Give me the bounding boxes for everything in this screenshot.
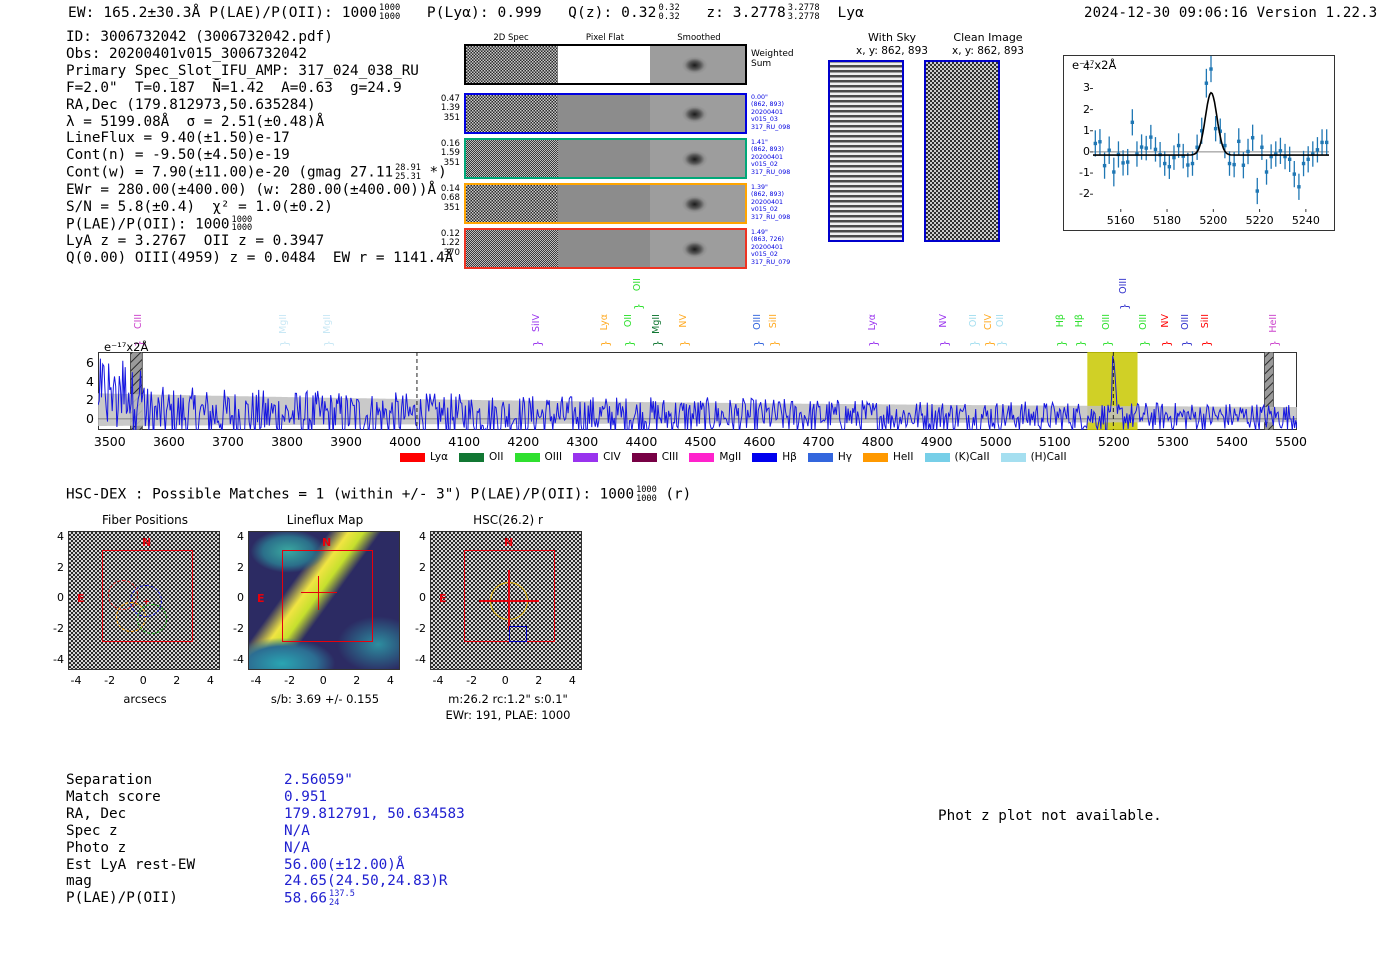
match-table-value: 2.56059" [284, 772, 353, 789]
hsc-r-caption-2: EWr: 191, PLAE: 1000 [428, 708, 588, 722]
info-signal-to-noise: S/N = 5.8(±0.4) χ² = 1.0(±0.2) [66, 199, 453, 216]
panel-ytick: 0 [406, 591, 426, 604]
emission-line-bracket: } [632, 303, 645, 310]
panel-ytick: -2 [44, 622, 64, 635]
spectrum-xtick: 4600 [735, 434, 785, 449]
emission-line-label: OIII [1138, 314, 1149, 330]
legend-label: (K)CaII [955, 451, 990, 463]
weighted-sum-strip [464, 44, 747, 85]
legend-swatch [752, 453, 777, 462]
strip-stats-4: 0.121.22370 [424, 230, 460, 258]
emission-line-label: Hβ [1055, 314, 1066, 327]
strip-stats-2: 0.161.59351 [424, 140, 460, 168]
panel-ytick: -4 [44, 653, 64, 666]
legend-label: HeII [893, 451, 914, 463]
hsc-summary-text: HSC-DEX : Possible Matches = 1 (within +… [66, 487, 634, 503]
hsc-crosshair-v [508, 570, 510, 630]
panel-ytick: 4 [406, 530, 426, 543]
info-redshifts: LyA z = 3.2767 OII z = 0.3947 [66, 233, 453, 250]
emission-line-label: OIII [1118, 278, 1129, 294]
spectrum-xtick: 4500 [675, 434, 725, 449]
spectrum-ytick: 6 [80, 355, 94, 370]
legend-item: (H)CaII [1001, 451, 1067, 463]
panel-title-pixel-flat: Pixel Flat [558, 33, 652, 43]
emission-line-bracket: } [995, 340, 1008, 347]
legend-label: OII [489, 451, 503, 463]
panel-title-smoothed: Smoothed [652, 33, 746, 43]
emission-line-bracket: } [768, 340, 781, 347]
legend-swatch [689, 453, 714, 462]
match-table-key: RA, Dec [66, 806, 284, 823]
legend-label: CIV [603, 451, 621, 463]
legend-swatch [400, 453, 425, 462]
header-plae-fraction: 10001000 [379, 4, 400, 22]
panel-xtick: 4 [198, 674, 222, 687]
panel-ytick: -2 [224, 622, 244, 635]
emission-line-label: OIII [1101, 314, 1112, 330]
lp-ytick: -1 [1073, 166, 1090, 179]
lp-ytick: 0 [1073, 145, 1090, 158]
emission-line-bracket: } [599, 340, 612, 347]
panel-ytick: 0 [224, 591, 244, 604]
info-ewr: EWr = 280.00(±400.00) (w: 280.00(±400.00… [66, 182, 453, 199]
emission-line-bracket: } [983, 340, 996, 347]
spectrum-xtick: 3800 [262, 434, 312, 449]
lp-xtick: 5180 [1149, 214, 1185, 227]
panel-xtick: 0 [311, 674, 335, 687]
emission-line-label: SiIV [531, 314, 542, 332]
header-redshift-suffix: Lyα [837, 5, 864, 21]
spectrum-strip-1 [464, 93, 747, 134]
emission-line-label: SiII [768, 314, 779, 328]
source-info-block: ID: 3006732042 (3006732042.pdf) Obs: 202… [66, 29, 453, 267]
match-plae-fraction: 137.524 [329, 890, 355, 907]
target-crosshair-1: + [143, 595, 150, 608]
match-table-key: mag [66, 873, 284, 890]
emission-line-label: Hβ [1074, 314, 1085, 327]
lp-ytick: 4 [1073, 60, 1090, 73]
spectrum-ytick: 0 [80, 411, 94, 426]
compass-north-label-3: N [504, 536, 513, 549]
spectrum-strip-4 [464, 228, 747, 269]
spectrum-xtick: 3700 [203, 434, 253, 449]
panel-ytick: 4 [224, 530, 244, 543]
spectrum-xtick: 3600 [144, 434, 194, 449]
emission-line-label: OII [623, 314, 634, 327]
match-table-row: Spec zN/A [66, 823, 465, 840]
emission-line-label: MgII [651, 314, 662, 334]
legend-label: MgII [719, 451, 741, 463]
emission-line-bracket: } [678, 340, 691, 347]
panel-title-fiber-positions: Fiber Positions [65, 513, 225, 527]
hsc-summary-filter: (r) [665, 487, 691, 503]
compass-east-label-3: E [439, 592, 447, 605]
panel-xtick: 2 [345, 674, 369, 687]
panel-ytick: 2 [406, 561, 426, 574]
lp-ytick: 3 [1073, 81, 1090, 94]
panel-xtick: -4 [426, 674, 450, 687]
spectrum-xtick: 4400 [616, 434, 666, 449]
emission-line-bracket: } [752, 340, 765, 347]
emission-line-legend: LyαOIIOIIICIVCIIIMgIIHβHγHeII(K)CaII(H)C… [400, 451, 1078, 463]
panel-xtick: -2 [98, 674, 122, 687]
legend-item: CIII [632, 451, 679, 463]
panel-ytick: 2 [224, 561, 244, 574]
emission-line-bracket: } [278, 340, 291, 347]
emission-line-bracket: } [1101, 340, 1114, 347]
spectrum-xtick: 4700 [794, 434, 844, 449]
panel-ytick: 4 [44, 530, 64, 543]
match-table-row: Match score0.951 [66, 789, 465, 806]
panel-xtick: 2 [165, 674, 189, 687]
panel-xtick: 4 [378, 674, 402, 687]
panel-xtick: -2 [460, 674, 484, 687]
emission-line-label: Lyα [599, 314, 610, 330]
info-continuum-narrow: Cont(n) = -9.50(±4.50)e-19 [66, 147, 453, 164]
match-table-key: Spec z [66, 823, 284, 840]
emission-line-label: OII [968, 314, 979, 327]
panel-ytick: -2 [406, 622, 426, 635]
hsc-r-caption: m:26.2 rc:1.2" s:0.1" [428, 692, 588, 706]
legend-swatch [632, 453, 657, 462]
lp-ytick: 2 [1073, 103, 1090, 116]
legend-label: Hβ [782, 451, 797, 463]
lp-ytick: 1 [1073, 124, 1090, 137]
header-summary-prefix: EW: 165.2±30.3Å P(LAE)/P(OII): 1000 [68, 5, 377, 21]
header-plya: P(Lyα): 0.999 [427, 5, 542, 21]
info-radec: RA,Dec (179.812973,50.635284) [66, 97, 453, 114]
info-lineflux: LineFlux = 9.40(±1.50)e-17 [66, 130, 453, 147]
spectrum-xtick: 4200 [498, 434, 548, 449]
panel-ytick: -4 [406, 653, 426, 666]
spectrum-strip-3 [464, 183, 747, 224]
legend-item: HeII [863, 451, 914, 463]
emission-line-bracket: } [1180, 340, 1193, 347]
emission-line-label: MgII [322, 314, 333, 334]
spectrum-xtick: 4900 [912, 434, 962, 449]
legend-label: (H)CaII [1031, 451, 1067, 463]
emission-line-bracket: } [1074, 340, 1087, 347]
emission-line-label: NV [938, 314, 949, 328]
with-sky-cutout-image [828, 60, 904, 242]
match-table-key: P(LAE)/P(OII) [66, 890, 284, 908]
emission-line-label: OII [995, 314, 1006, 327]
legend-item: OIII [515, 451, 563, 463]
legend-item: (K)CaII [925, 451, 990, 463]
line-profile-canvas [1063, 55, 1335, 231]
spectrum-xtick: 4100 [439, 434, 489, 449]
lineflux-map-caption: s/b: 3.69 +/- 0.155 [245, 692, 405, 706]
info-id: ID: 3006732042 (3006732042.pdf) [66, 29, 453, 46]
emission-line-bracket: } [1268, 340, 1281, 347]
compass-north-label: N [142, 536, 151, 549]
emission-line-bracket: } [1160, 340, 1173, 347]
hsc-r-image: N E [430, 531, 582, 670]
panel-xtick: -2 [278, 674, 302, 687]
compass-north-label-2: N [322, 536, 331, 549]
legend-item: Hγ [808, 451, 852, 463]
panel-title-2d-spec: 2D Spec [464, 33, 558, 43]
emission-line-bracket: } [1055, 340, 1068, 347]
match-table-value: N/A [284, 840, 310, 857]
spectrum-xtick: 5100 [1030, 434, 1080, 449]
emission-line-label: MgII [278, 314, 289, 334]
spectrum-xtick: 3900 [321, 434, 371, 449]
header-qz-fraction: 0.320.32 [658, 4, 679, 22]
match-table-row: Separation2.56059" [66, 772, 465, 789]
spectrum-annotation: e⁻¹⁷x2Å [104, 340, 148, 354]
spectrum-ytick: 4 [80, 374, 94, 389]
spectrum-xtick: 5200 [1089, 434, 1139, 449]
panel-xtick: 2 [527, 674, 551, 687]
legend-swatch [808, 453, 833, 462]
info-q-oiii: Q(0.00) OIII(4959) z = 0.0484 EW r = 114… [66, 250, 453, 267]
match-table-value: 179.812791, 50.634583 [284, 806, 465, 823]
header-qz: Q(z): 0.32 [568, 5, 656, 21]
match-table-value: N/A [284, 823, 310, 840]
info-wavelength: λ = 5199.08Å σ = 2.51(±0.48)Å [66, 114, 453, 131]
panel-ytick: -4 [224, 653, 244, 666]
legend-swatch [573, 453, 598, 462]
lp-xtick: 5240 [1288, 214, 1324, 227]
match-table-key: Separation [66, 772, 284, 789]
emission-line-label: HeII [1268, 314, 1279, 333]
lp-xtick: 5160 [1103, 214, 1139, 227]
info-plae-fraction: 10001000 [232, 216, 253, 233]
legend-item: Hβ [752, 451, 797, 463]
2d-spectrum-panels: 2D Spec Pixel Flat Smoothed Weighted Sum… [424, 33, 764, 263]
spectrum-xtick: 4800 [853, 434, 903, 449]
panel-xtick: 4 [560, 674, 584, 687]
hsc-match-summary: HSC-DEX : Possible Matches = 1 (within +… [66, 486, 691, 503]
fiber-positions-image: N E + [68, 531, 220, 670]
cutout-title-clean-image: Clean Image [928, 31, 1048, 44]
match-table-value: 24.65(24.50,24.83)R [284, 873, 448, 890]
emission-line-label: SiII [1200, 314, 1211, 328]
lineflux-crosshair-v [318, 576, 319, 610]
legend-swatch [925, 453, 950, 462]
spectrum-xtick: 5500 [1266, 434, 1316, 449]
photoz-unavailable-message: Phot z plot not available. [938, 808, 1162, 824]
fiber-positions-caption: arcsecs [65, 692, 225, 706]
emission-line-bracket: } [651, 340, 664, 347]
strip-meta-2: 1.41"(862, 893)20200401v015_02317_RU_098 [751, 139, 821, 176]
match-table-value: 58.66137.524 [284, 890, 355, 908]
emission-line-label: Lyα [867, 314, 878, 330]
strip-stats-3: 0.140.68351 [424, 185, 460, 213]
match-detail-table: Separation2.56059"Match score0.951RA, De… [66, 772, 465, 908]
spectrum-canvas [98, 352, 1297, 430]
fiber-circle-4 [137, 604, 167, 634]
lp-xtick: 5220 [1242, 214, 1278, 227]
panel-ytick: 2 [44, 561, 64, 574]
emission-line-bracket: } [968, 340, 981, 347]
panel-title-lineflux-map: Lineflux Map [245, 513, 405, 527]
panel-xtick: 0 [131, 674, 155, 687]
clean-cutout-image [924, 60, 1000, 242]
match-table-row: Photo zN/A [66, 840, 465, 857]
emission-line-bracket: } [322, 340, 335, 347]
legend-item: CIV [573, 451, 621, 463]
legend-swatch [863, 453, 888, 462]
legend-swatch [515, 453, 540, 462]
lineflux-region-box [282, 550, 373, 642]
legend-swatch [1001, 453, 1026, 462]
legend-label: Hγ [838, 451, 852, 463]
strip-meta-3: 1.39"(862, 893)20200401v015_02317_RU_098 [751, 184, 821, 221]
lineflux-map-image: N E [248, 531, 400, 670]
match-table-value: 56.00(±12.00)Å [284, 857, 405, 874]
emission-line-label: CIV [983, 314, 994, 330]
panel-xtick: 0 [493, 674, 517, 687]
spectrum-strip-2 [464, 138, 747, 179]
legend-item: Lyα [400, 451, 448, 463]
match-table-row: mag24.65(24.50,24.83)R [66, 873, 465, 890]
legend-label: OIII [545, 451, 563, 463]
cutout-coords-clean-image: x, y: 862, 893 [928, 45, 1048, 57]
spectrum-xtick: 5000 [971, 434, 1021, 449]
lp-ytick: -2 [1073, 187, 1090, 200]
info-seeing: F=2.0" T=0.187 N̄=1.42 A=0.63 g=24.9 [66, 80, 453, 97]
info-obs: Obs: 20200401v015_3006732042 [66, 46, 453, 63]
strip-meta-1: 0.00"(862, 893)20200401v015_03317_RU_098 [751, 94, 821, 131]
compass-east-label: E [77, 592, 85, 605]
info-gmag-fraction: 28.9125.31 [395, 164, 421, 181]
emission-line-bracket: } [623, 340, 636, 347]
header-redshift: z: 3.2778 [706, 5, 785, 21]
match-table-row: P(LAE)/P(OII)58.66137.524 [66, 890, 465, 908]
emission-line-label: OIII [752, 314, 763, 330]
legend-item: MgII [689, 451, 741, 463]
match-table-row: Est LyA rest-EW56.00(±12.00)Å [66, 857, 465, 874]
emission-line-bracket: } [1138, 340, 1151, 347]
emission-line-bracket: } [938, 340, 951, 347]
spectrum-xtick: 4300 [557, 434, 607, 449]
spectrum-xtick: 4000 [380, 434, 430, 449]
emission-line-label: NV [1160, 314, 1171, 328]
catalog-match-box [509, 626, 527, 642]
emission-line-label: CIII [133, 314, 144, 329]
emission-line-bracket: } [1118, 303, 1131, 310]
legend-item: OII [459, 451, 503, 463]
match-table-key: Est LyA rest-EW [66, 857, 284, 874]
legend-label: CIII [662, 451, 679, 463]
panel-xtick: -4 [64, 674, 88, 687]
panel-title-hsc-r: HSC(26.2) r [428, 513, 588, 527]
strip-stats-1: 0.471.39351 [424, 95, 460, 123]
emission-line-bracket: } [867, 340, 880, 347]
emission-line-label: OIII [1180, 314, 1191, 330]
spectrum-xtick: 5400 [1207, 434, 1257, 449]
weighted-sum-label: Weighted Sum [751, 49, 794, 69]
spectrum-xtick: 5300 [1148, 434, 1198, 449]
info-plae-poii: P(LAE)/P(OII): 100010001000 [66, 216, 453, 234]
emission-line-bracket: } [1200, 340, 1213, 347]
match-table-key: Match score [66, 789, 284, 806]
header-timestamp-version: 2024-12-30 09:06:16 Version 1.22.3 [1084, 5, 1377, 21]
header-summary: EW: 165.2±30.3Å P(LAE)/P(OII): 100010001… [68, 4, 864, 22]
legend-label: Lyα [430, 451, 448, 463]
header-redshift-fraction: 3.27783.2778 [788, 4, 820, 22]
info-continuum-wide: Cont(w) = 7.90(±11.00)e-20 (gmag 27.1128… [66, 164, 453, 182]
strip-meta-4: 1.49"(863, 726)20200401v015_02317_RU_079 [751, 229, 821, 266]
compass-east-label-2: E [257, 592, 265, 605]
lp-xtick: 5200 [1195, 214, 1231, 227]
emission-line-bracket: } [531, 340, 544, 347]
legend-swatch [459, 453, 484, 462]
hsc-plae-fraction: 10001000 [636, 486, 657, 503]
panel-xtick: -4 [244, 674, 268, 687]
emission-line-label: NV [678, 314, 689, 328]
spectrum-xtick: 3500 [85, 434, 135, 449]
match-table-value: 0.951 [284, 789, 327, 806]
emission-line-label: OII [632, 278, 643, 291]
panel-ytick: 0 [44, 591, 64, 604]
info-primary-spec: Primary Spec_Slot_IFU_AMP: 317_024_038_R… [66, 63, 453, 80]
match-table-row: RA, Dec179.812791, 50.634583 [66, 806, 465, 823]
match-table-key: Photo z [66, 840, 284, 857]
spectrum-ytick: 2 [80, 392, 94, 407]
